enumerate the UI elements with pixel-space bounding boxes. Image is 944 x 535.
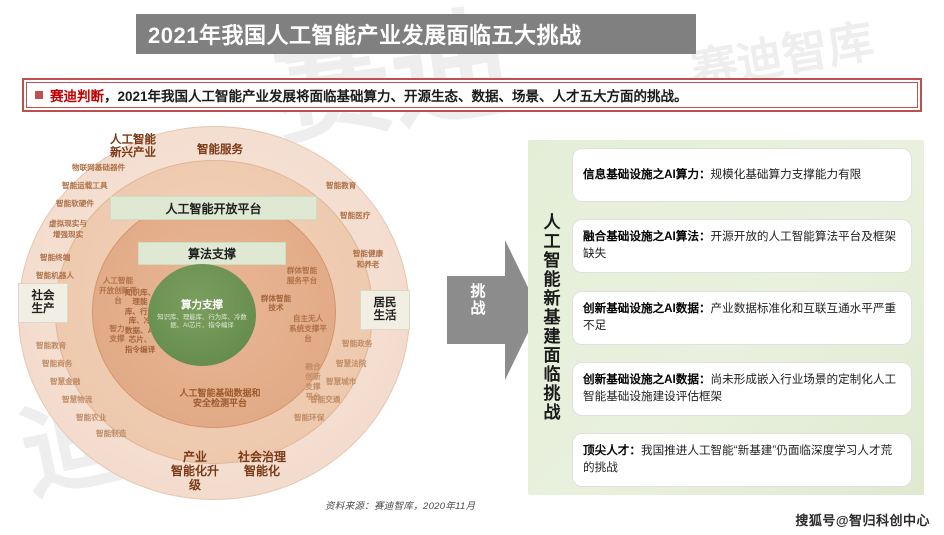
ring-label-smart-health-elderly: 智能健康 和养老 bbox=[342, 248, 394, 270]
ring-label-smart-environment: 智能环保 bbox=[294, 412, 324, 423]
challenge-card[interactable]: 信息基础设施之AI算力：规模化基础算力支撑能力有限 bbox=[572, 148, 912, 202]
green-bar-algorithm-support-label: 算法支撑 bbox=[188, 245, 236, 262]
page-title: 2021年我国人工智能产业发展面临五大挑战 bbox=[136, 18, 581, 50]
challenge-card-heading: 创新基础设施之AI数据： bbox=[583, 302, 711, 315]
panel-vertical-label-text: 人工智能新基建面临挑战 bbox=[538, 213, 563, 422]
ring-label-smart-finance: 智慧金融 bbox=[50, 376, 80, 387]
source-note: 资料来源：赛迪智库，2020年11月 bbox=[325, 498, 475, 512]
ring-label-smart-agriculture: 智能农业 bbox=[76, 412, 106, 423]
judgement-banner: 赛迪判断，2021年我国人工智能产业发展将面临基础算力、开源生态、数据、场景、人… bbox=[22, 78, 922, 112]
challenge-card-text: 创新基础设施之AI数据：尚未形成嵌入行业场景的定制化人工智能基础设施建设评估框架 bbox=[583, 372, 901, 406]
label-resident-life: 居民 生活 bbox=[360, 290, 410, 330]
ring-label-smart-vehicles: 智能运载工具 bbox=[62, 180, 108, 191]
judgement-lead: 赛迪判断 bbox=[50, 89, 104, 104]
ring-label-smart-government: 智能政务 bbox=[342, 338, 372, 349]
ring-label-smart-robot: 智能机器人 bbox=[36, 270, 74, 281]
ring-label-autonomous-systems-platform: 自主无人 系统支撑平 台 bbox=[284, 314, 332, 344]
ring-label-vr-ar: 虚拟现实与 增强现实 bbox=[40, 218, 96, 240]
label-data-security-platform: 人工智能基础数据和 安全检测平台 bbox=[140, 388, 300, 409]
challenge-card-heading: 创新基础设施之AI数据： bbox=[583, 373, 711, 386]
judgement-banner-text: 赛迪判断，2021年我国人工智能产业发展将面临基础算力、开源生态、数据、场景、人… bbox=[50, 85, 688, 105]
challenge-card[interactable]: 创新基础设施之AI数据：产业数据标准化和互联互通水平严重不足 bbox=[572, 291, 912, 345]
label-social-governance: 社会治理 智能化 bbox=[226, 451, 298, 479]
ai-ecosystem-diagram: 物联网基础器件 智能运载工具 智能软硬件 虚拟现实与 增强现实 智能终端 智能机… bbox=[10, 118, 430, 508]
green-bar-open-platform-label: 人工智能开放平台 bbox=[165, 200, 261, 217]
challenge-card-text: 顶尖人才：我国推进人工智能“新基建”仍面临深度学习人才荒的挑战 bbox=[583, 443, 901, 477]
slide-canvas: 赛迪 赛 迪 赛迪智库 2021年我国人工智能产业发展面临五大挑战 赛迪判断，2… bbox=[0, 0, 944, 535]
challenge-card[interactable]: 融合基础设施之AI算法：开源开放的人工智能算法平台及框架缺失 bbox=[572, 219, 912, 273]
ring-label-smart-medical: 智能医疗 bbox=[340, 210, 370, 221]
challenge-arrow-label: 挑 战 bbox=[455, 284, 501, 318]
ring-label-iot-components: 物联网基础器件 bbox=[72, 162, 125, 173]
diagram-core-compute-support: 算力支撑 知识库、理能库、行为库、冷数据、AI芯片、指令编译 bbox=[148, 264, 256, 366]
challenge-card-heading: 信息基础设施之AI算力： bbox=[583, 168, 711, 181]
judgement-body: ，2021年我国人工智能产业发展将面临基础算力、开源生态、数据、场景、人才五大方… bbox=[104, 89, 688, 104]
core-detail: 知识库、理能库、行为库、冷数据、AI芯片、指令编译 bbox=[155, 314, 249, 330]
ring-label-swarm-intelligence-platform: 群体智能 服务平台 bbox=[280, 266, 324, 286]
ring-label-smart-court: 智慧法院 bbox=[336, 358, 366, 369]
challenge-card-text: 信息基础设施之AI算力：规模化基础算力支撑能力有限 bbox=[583, 167, 861, 184]
ring-label-smart-logistics: 智慧物流 bbox=[62, 394, 92, 405]
green-bar-open-platform: 人工智能开放平台 bbox=[110, 196, 317, 220]
challenges-panel: 人工智能新基建面临挑战 信息基础设施之AI算力：规模化基础算力支撑能力有限 融合… bbox=[528, 140, 924, 495]
ring-label-swarm-tech: 群体智能 技术 bbox=[258, 294, 294, 313]
challenge-arrow: 挑 战 bbox=[447, 240, 539, 380]
ring-label-smart-city: 智慧城市 bbox=[326, 376, 356, 387]
ring-label-smart-terminal: 智能终端 bbox=[40, 252, 70, 263]
challenge-card-heading: 顶尖人才： bbox=[583, 444, 641, 457]
challenge-card-text: 融合基础设施之AI算法：开源开放的人工智能算法平台及框架缺失 bbox=[583, 229, 901, 263]
publisher-credit: 搜狐号@智归科创中心 bbox=[795, 510, 930, 529]
label-smart-service: 智能服务 bbox=[180, 144, 260, 157]
label-industry-upgrade: 产业 智能化升 级 bbox=[164, 451, 226, 492]
challenge-card-list: 信息基础设施之AI算力：规模化基础算力支撑能力有限 融合基础设施之AI算法：开源… bbox=[572, 140, 924, 495]
ring-label-smart-education-bl: 智能教育 bbox=[36, 340, 66, 351]
ring-label-smart-manufacturing: 智能制造 bbox=[96, 428, 126, 439]
challenge-card-heading: 融合基础设施之AI算法： bbox=[583, 230, 711, 243]
challenge-card-body: 规模化基础算力支撑能力有限 bbox=[711, 168, 862, 181]
panel-vertical-label: 人工智能新基建面临挑战 bbox=[528, 140, 572, 495]
challenge-card[interactable]: 创新基础设施之AI数据：尚未形成嵌入行业场景的定制化人工智能基础设施建设评估框架 bbox=[572, 362, 912, 416]
label-new-industry: 人工智能 新兴产业 bbox=[88, 134, 178, 160]
ring-label-smart-hardware: 智能软硬件 bbox=[56, 198, 94, 209]
ring-label-smart-business: 智能商务 bbox=[42, 358, 72, 369]
slide-title-bar: 2021年我国人工智能产业发展面临五大挑战 bbox=[136, 14, 696, 54]
challenge-card[interactable]: 顶尖人才：我国推进人工智能“新基建”仍面临深度学习人才荒的挑战 bbox=[572, 433, 912, 487]
challenge-card-text: 创新基础设施之AI数据：产业数据标准化和互联互通水平严重不足 bbox=[583, 301, 901, 335]
green-bar-algorithm-support: 算法支撑 bbox=[138, 242, 286, 265]
ring-label-smart-education: 智能教育 bbox=[326, 180, 356, 191]
label-social-production: 社会 生产 bbox=[18, 283, 68, 323]
core-title: 算力支撑 bbox=[181, 300, 223, 312]
ring-label-fusion-innovation-platform: 融合 创新 支撑 平台 bbox=[300, 362, 326, 401]
square-bullet-icon bbox=[35, 91, 43, 99]
judgement-banner-inner: 赛迪判断，2021年我国人工智能产业发展将面临基础算力、开源生态、数据、场景、人… bbox=[26, 82, 918, 108]
